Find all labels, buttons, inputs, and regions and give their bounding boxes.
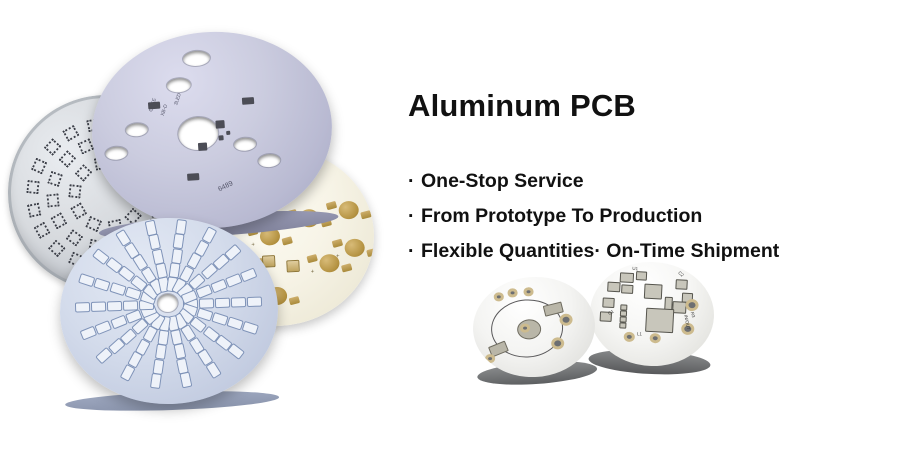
pcb-pad	[46, 193, 59, 207]
pcb-pad	[281, 236, 292, 245]
list-item-label: One-Stop Service	[421, 164, 584, 199]
list-item: · From Prototype To Production	[408, 199, 888, 234]
pcb-pad	[286, 260, 300, 273]
text-panel: Aluminum PCB · One-Stop Service · From P…	[408, 88, 888, 269]
pcb-pad	[366, 247, 377, 256]
pcb-pad	[110, 315, 127, 329]
pcb-pad	[148, 234, 160, 251]
feature-list: · One-Stop Service · From Prototype To P…	[408, 164, 888, 269]
pcb-pad	[145, 220, 157, 237]
pcb-pad	[199, 298, 214, 308]
pcb-pad	[332, 238, 343, 247]
pcb-pad	[231, 297, 246, 307]
pcb-pad	[338, 201, 359, 220]
pcb-pad	[227, 343, 245, 360]
pcb-pad	[206, 361, 222, 379]
pcb-pad	[360, 210, 371, 219]
pcb-pad	[94, 278, 111, 292]
polarity-mark: +	[336, 254, 340, 260]
pcb-pad	[168, 262, 179, 278]
bullet-dot-icon: ·	[408, 199, 421, 234]
pcb-pad	[155, 344, 166, 360]
pcb-pad	[95, 321, 112, 335]
list-item: · One-Stop Service	[408, 164, 888, 199]
bullet-dot-icon: ·	[408, 234, 421, 269]
promo-banner: ++++++++ CREE XB-D 3LED 6489	[0, 0, 900, 450]
pcb-pad	[109, 282, 126, 296]
lavender-led-board: CREE XB-D 3LED 6489	[85, 24, 338, 236]
pcb-pad	[242, 321, 259, 335]
polarity-mark: +	[311, 269, 315, 275]
pcb-pad	[75, 302, 90, 312]
page-title: Aluminum PCB	[408, 88, 888, 124]
pcb-pad	[153, 358, 164, 374]
pcb-pad	[247, 296, 262, 306]
pcb-pad	[151, 373, 162, 389]
pcb-pad	[151, 248, 163, 265]
pcb-pad	[107, 301, 122, 311]
pcb-pad	[175, 219, 186, 235]
cob-module-board	[470, 273, 599, 381]
pcb-pad	[306, 253, 317, 262]
blue-led-board	[57, 214, 281, 407]
pcb-pad	[341, 263, 352, 272]
pcb-pad	[91, 301, 106, 311]
pcb-pad	[344, 238, 365, 257]
list-item-label: From Prototype To Production	[421, 199, 702, 234]
pcb-pad	[215, 297, 230, 307]
pcb-pad	[289, 295, 300, 304]
driver-module-board: U1 C2 R3 IN/OUT C1 L1	[587, 259, 716, 369]
pcb-pad	[27, 202, 41, 217]
pcb-pad	[180, 371, 192, 388]
pcb-pad	[240, 268, 257, 282]
pcb-pad	[171, 248, 182, 264]
pcb-pad	[68, 184, 81, 198]
bullet-dot-icon: ·	[408, 164, 421, 199]
pcb-pad	[123, 300, 138, 310]
pcb-pad	[26, 180, 39, 194]
pcb-pad	[173, 233, 184, 249]
